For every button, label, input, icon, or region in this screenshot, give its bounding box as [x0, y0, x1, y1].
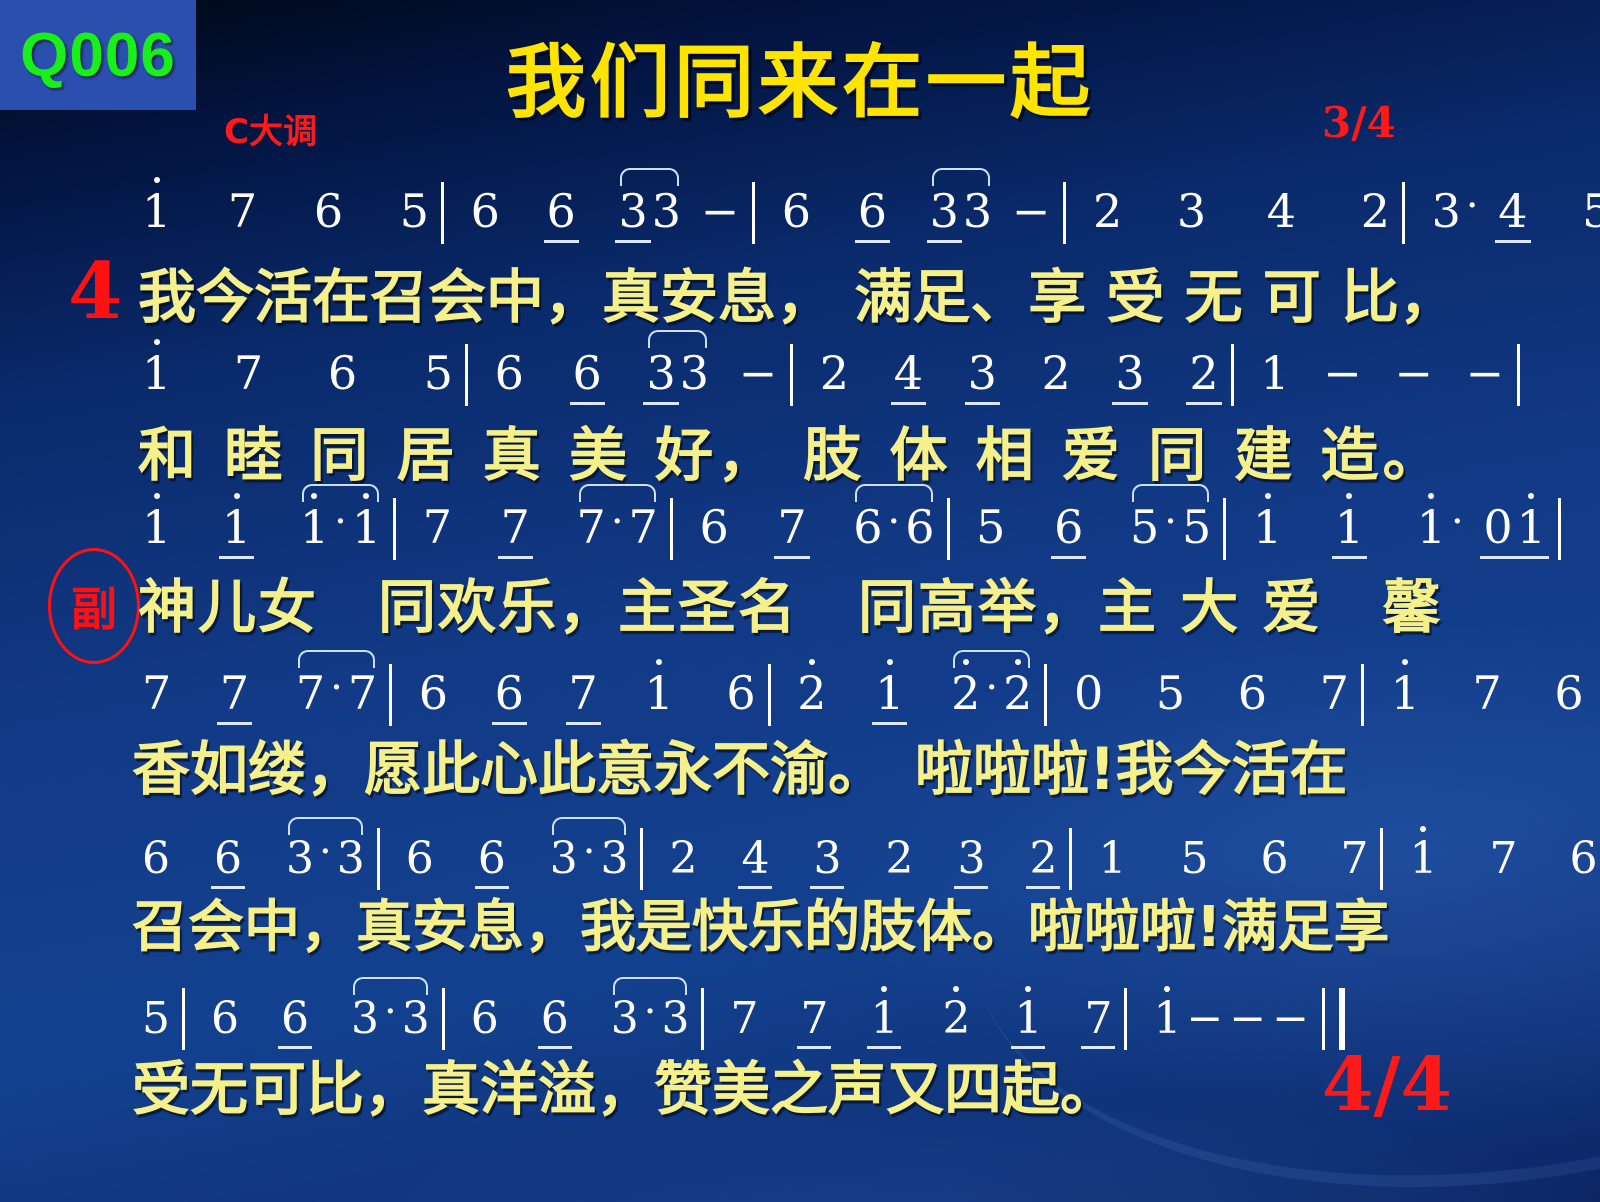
chorus-marker: 副: [48, 548, 140, 664]
notation-line-4: 7 7 7·7 6 6 7 1 6 2 1 2·2 0 5 6 7 1 7 6 …: [140, 658, 1460, 732]
hymn-slide: Q006 我们同来在一起 C大调 3/4 4/4 4 副 1 7 6 5 6 6…: [0, 0, 1600, 1202]
lyrics-line-5: 召会中，真安息，我是快乐的肢体。啦啦啦!满足享: [132, 882, 1492, 963]
notation-line-3: 1 1 1·1 7 7 7·7 6 7 6·6 5 6 5·5 1 1 1· 0…: [140, 492, 1460, 566]
lyrics-line-2: 和 睦 同 居 真 美 好， 肢 体 相 爱 同 建 造。: [138, 408, 1498, 492]
verse-number: 4: [68, 246, 122, 337]
key-signature-label: C大调: [224, 104, 317, 153]
time-signature-top: 3/4: [1322, 98, 1396, 147]
lyrics-line-4: 香如缕，愿此心此意永不渝。 啦啦啦!我今活在: [132, 722, 1492, 806]
notation-line-2: 1 7 6 5 6 6 33 − 2 4 3 2 3 2 1 − − −: [140, 338, 1460, 412]
lyrics-line-1: 我今活在召会中，真安息， 满足、享 受 无 可 比，: [138, 250, 1498, 334]
notation-line-1: 1 7 6 5 6 6 33 − 6 6 33 − 2 3 4 2 3· 4 5…: [140, 176, 1460, 250]
lyrics-line-3: 神儿女 同欢乐，主圣名 同高举，主 大 爱 馨: [138, 560, 1498, 644]
lyrics-line-6: 受无可比，真洋溢，赞美之声又四起。: [132, 1042, 1492, 1126]
